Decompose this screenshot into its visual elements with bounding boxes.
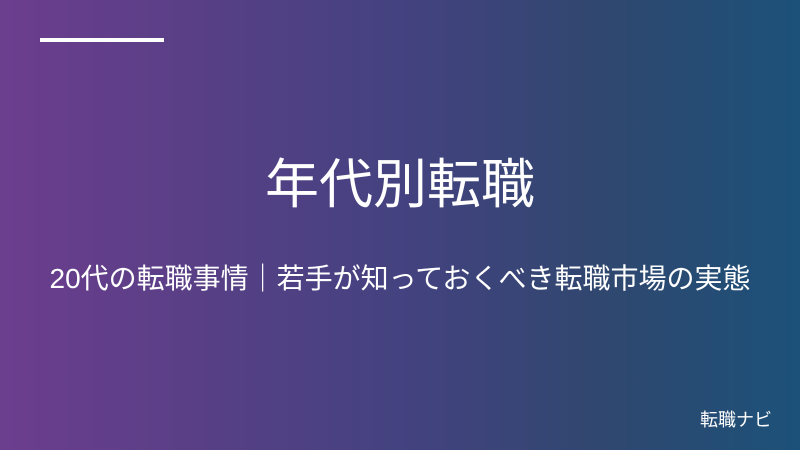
page-title: 年代別転職 [265, 154, 535, 216]
title-slide: 年代別転職 20代の転職事情｜若手が知っておくべき転職市場の実態 転職ナビ [0, 0, 800, 450]
headline-block: 年代別転職 20代の転職事情｜若手が知っておくべき転職市場の実態 [0, 0, 800, 450]
brand-watermark: 転職ナビ [700, 410, 772, 432]
page-subtitle: 20代の転職事情｜若手が知っておくべき転職市場の実態 [50, 217, 751, 296]
